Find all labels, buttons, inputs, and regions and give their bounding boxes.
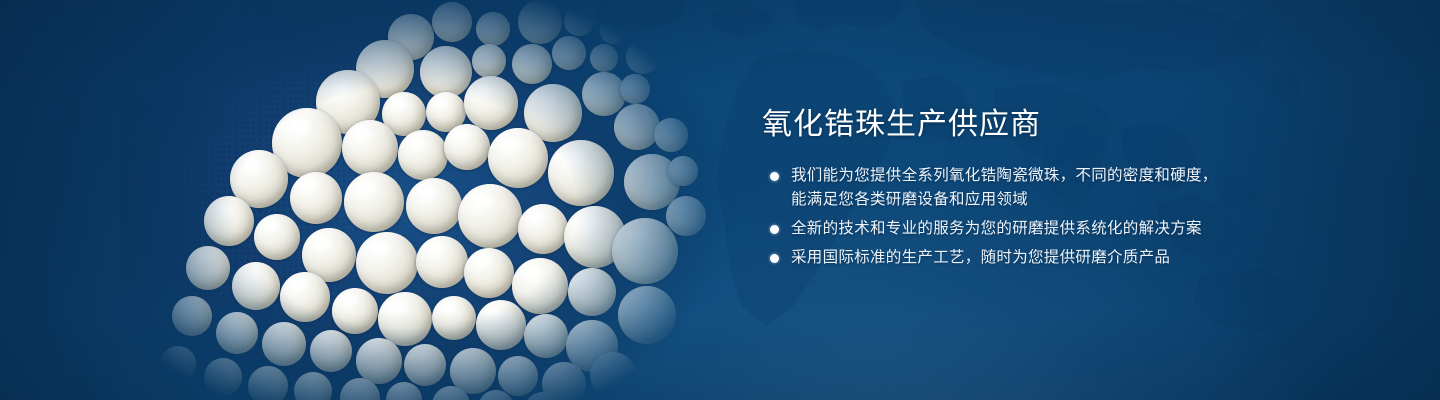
bead [552,36,586,70]
bead [498,356,538,396]
list-item: 我们能为您提供全系列氧化锆陶瓷微珠，不同的密度和硬度， 能满足您各类研磨设备和应… [762,164,1322,212]
bead [458,184,522,248]
bullet-dot-icon [770,254,779,263]
beads-cluster [120,0,740,400]
list-item: 采用国际标准的生产工艺，随时为您提供研磨介质产品 [762,246,1322,270]
bead [386,382,422,400]
bead [472,44,506,78]
banner-content: 氧化锆珠生产供应商 我们能为您提供全系列氧化锆陶瓷微珠，不同的密度和硬度， 能满… [762,106,1322,275]
bead [432,296,476,340]
bead [590,352,636,398]
bead [464,76,518,130]
list-item: 全新的技术和专业的服务为您的研磨提供系统化的解决方案 [762,217,1322,241]
bullet-line: 全新的技术和专业的服务为您的研磨提供系统化的解决方案 [791,217,1322,241]
bullet-dot-icon [770,225,779,234]
bead [160,346,196,382]
bead [356,232,418,294]
bead [476,12,510,46]
bead [216,312,258,354]
bead [568,268,616,316]
bead [290,172,342,224]
bead [356,338,402,384]
bead [294,372,332,400]
bead [332,288,378,334]
bead [488,128,548,188]
bead [464,248,514,298]
bead [600,18,626,44]
bead [248,366,288,400]
bead [590,44,618,72]
bead [406,178,462,234]
bead [512,258,568,314]
bead [564,6,594,36]
banner-headline: 氧化锆珠生产供应商 [762,106,1322,144]
bead [582,72,626,116]
bead [232,262,280,310]
bullet-line: 我们能为您提供全系列氧化锆陶瓷微珠，不同的密度和硬度， [791,164,1322,188]
bead [172,296,212,336]
bead [524,314,568,358]
bullet-dot-icon [770,172,779,181]
bead [342,120,398,176]
bead [668,156,698,186]
bead [186,246,230,290]
bead [432,2,472,42]
bead [280,272,330,322]
bead [378,292,432,346]
bead [416,236,468,288]
bead [420,46,472,98]
bead [204,196,254,246]
bead [518,0,562,44]
bead [262,322,306,366]
bead [654,118,688,152]
bead [404,344,446,386]
bead [512,44,552,84]
bead [344,172,404,232]
bead [620,74,650,104]
bullet-line: 采用国际标准的生产工艺，随时为您提供研磨介质产品 [791,246,1322,270]
bead [398,130,448,180]
bead [612,218,678,284]
bead [518,204,568,254]
bead [666,196,706,236]
bead [548,140,614,206]
bead [614,104,660,150]
bead [444,124,490,170]
bead [476,300,526,350]
banner-bullet-list: 我们能为您提供全系列氧化锆陶瓷微珠，不同的密度和硬度， 能满足您各类研磨设备和应… [762,164,1322,270]
bead [204,358,242,396]
bullet-line: 能满足您各类研磨设备和应用领域 [791,188,1322,212]
bead [254,214,300,260]
bead [618,286,676,344]
bead [310,330,352,372]
hero-banner: 氧化锆珠生产供应商 我们能为您提供全系列氧化锆陶瓷微珠，不同的密度和硬度， 能满… [0,0,1440,400]
zirconia-beads-photo [120,0,740,400]
bead [626,40,660,74]
